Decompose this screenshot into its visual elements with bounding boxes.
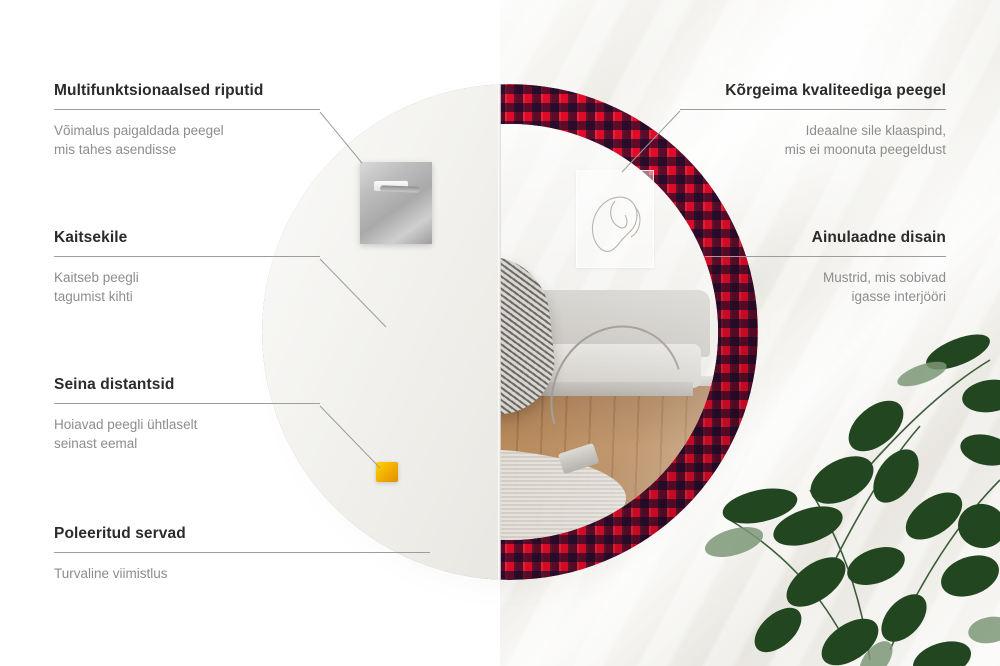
callout-title: Ainulaadne disain [705,229,946,247]
callout-description: Mustrid, mis sobivad igasse interjööri [705,268,946,306]
callout-description: Hoiavad peegli ühtlaselt seinast eemal [54,415,320,453]
callout-rule [54,403,320,404]
callout-seina-distantsid: Seina distantsid Hoiavad peegli ühtlasel… [54,376,320,453]
infographic-stage: Multifunktsionaalsed riputid Võimalus pa… [0,0,1000,666]
callout-description: Ideaalne sile klaaspind, mis ei moonuta … [680,121,946,159]
callout-description: Võimalus paigaldada peegel mis tahes ase… [54,121,320,159]
callout-title: Multifunktsionaalsed riputid [54,82,320,100]
callout-title: Kõrgeima kvaliteediga peegel [680,82,946,100]
callout-description: Kaitseb peegli tagumist kihti [54,268,320,306]
callout-rule [705,256,946,257]
wall-spacer-block [376,462,398,482]
callout-description: Turvaline viimistlus [54,564,430,583]
mirror-split-edge [498,84,501,580]
callout-ainulaadne-disain: Ainulaadne disain Mustrid, mis sobivad i… [705,229,946,306]
callout-rule [680,109,946,110]
reflected-framed-art [576,170,654,268]
callout-korgeima-kvaliteediga-peegel: Kõrgeima kvaliteediga peegel Ideaalne si… [680,82,946,159]
callout-kaitsekile: Kaitsekile Kaitseb peegli tagumist kihti [54,229,320,306]
callout-title: Poleeritud servad [54,525,430,543]
callout-title: Seina distantsid [54,376,320,394]
callout-poleeritud-servad: Poleeritud servad Turvaline viimistlus [54,525,430,583]
hanger-bracket [360,162,432,244]
callout-title: Kaitsekile [54,229,320,247]
callout-rule [54,256,320,257]
bracket-rail [380,185,420,192]
callout-multifunktsionaalsed-riputid: Multifunktsionaalsed riputid Võimalus pa… [54,82,320,159]
decorative-plant [690,330,1000,666]
callout-rule [54,109,320,110]
callout-rule [54,552,430,553]
